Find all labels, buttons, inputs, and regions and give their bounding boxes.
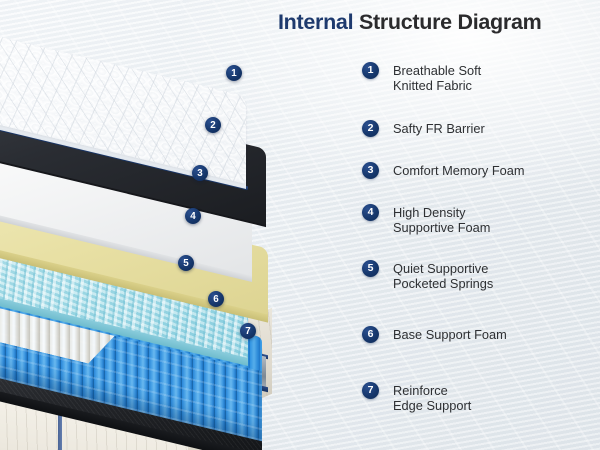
- diagram-badge-7-edge-support[interactable]: 7: [240, 323, 256, 339]
- diagram-badge-4-high-density-foam[interactable]: 4: [185, 208, 201, 224]
- legend-badge-7: 7: [362, 382, 379, 399]
- legend-badge-5: 5: [362, 260, 379, 277]
- legend-item-4[interactable]: 4High Density Supportive Foam: [362, 204, 490, 236]
- legend-badge-6: 6: [362, 326, 379, 343]
- legend-badge-4: 4: [362, 204, 379, 221]
- mattress-cutaway-illustration: [0, 8, 358, 448]
- legend-label-4: High Density Supportive Foam: [393, 204, 490, 236]
- diagram-badge-3-memory-foam[interactable]: 3: [192, 165, 208, 181]
- legend-item-6[interactable]: 6Base Support Foam: [362, 326, 507, 343]
- legend-label-3: Comfort Memory Foam: [393, 162, 525, 178]
- legend-item-1[interactable]: 1Breathable Soft Knitted Fabric: [362, 62, 481, 94]
- legend-badge-3: 3: [362, 162, 379, 179]
- diagram-badge-2-fr-barrier[interactable]: 2: [205, 117, 221, 133]
- legend-label-1: Breathable Soft Knitted Fabric: [393, 62, 481, 94]
- legend-label-6: Base Support Foam: [393, 326, 507, 342]
- legend-item-7[interactable]: 7Reinforce Edge Support: [362, 382, 471, 414]
- diagram-badge-5-pocketed-springs[interactable]: 5: [178, 255, 194, 271]
- legend-badge-2: 2: [362, 120, 379, 137]
- diagram-badge-1-knitted-fabric[interactable]: 1: [226, 65, 242, 81]
- legend-badge-1: 1: [362, 62, 379, 79]
- legend-label-5: Quiet Supportive Pocketed Springs: [393, 260, 493, 292]
- legend-item-5[interactable]: 5Quiet Supportive Pocketed Springs: [362, 260, 493, 292]
- diagram-badge-6-base-support-foam[interactable]: 6: [208, 291, 224, 307]
- legend-item-3[interactable]: 3Comfort Memory Foam: [362, 162, 525, 179]
- legend-label-2: Safty FR Barrier: [393, 120, 485, 136]
- legend-item-2[interactable]: 2Safty FR Barrier: [362, 120, 485, 137]
- page-title-main: Structure Diagram: [353, 10, 541, 34]
- legend-label-7: Reinforce Edge Support: [393, 382, 471, 414]
